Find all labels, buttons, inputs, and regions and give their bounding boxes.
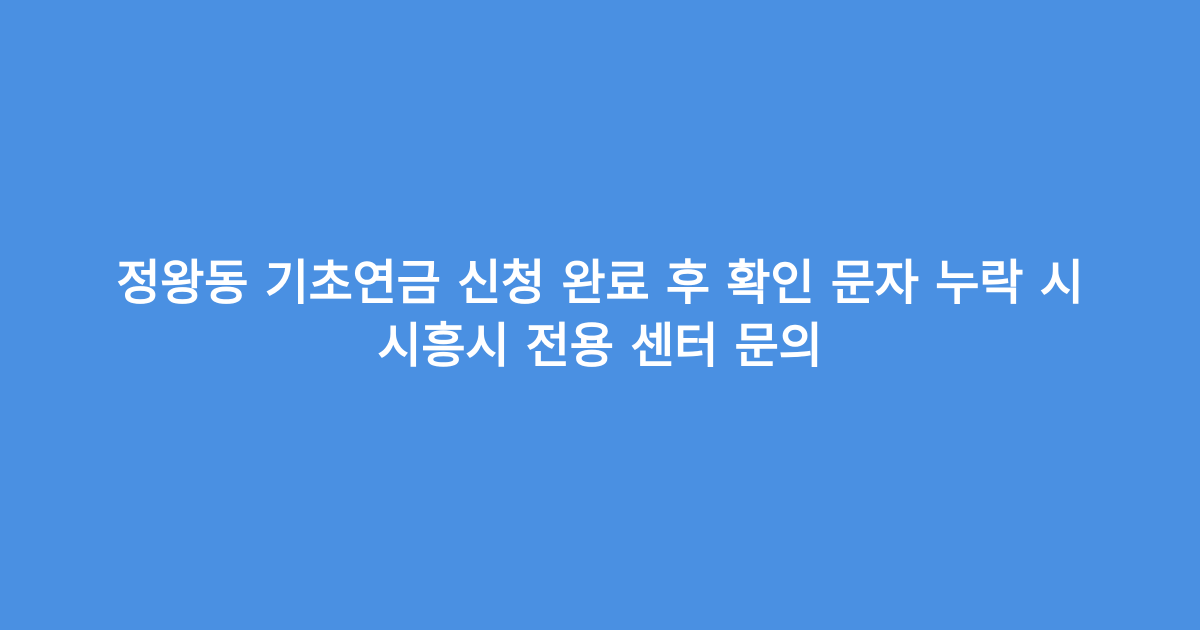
headline-line-2: 시흥시 전용 센터 문의 — [70, 315, 1130, 378]
headline-line-1: 정왕동 기초연금 신청 완료 후 확인 문자 누락 시 — [70, 252, 1130, 315]
page-title: 정왕동 기초연금 신청 완료 후 확인 문자 누락 시 시흥시 전용 센터 문의 — [70, 252, 1130, 378]
og-banner-card: 정왕동 기초연금 신청 완료 후 확인 문자 누락 시 시흥시 전용 센터 문의 — [0, 0, 1200, 630]
